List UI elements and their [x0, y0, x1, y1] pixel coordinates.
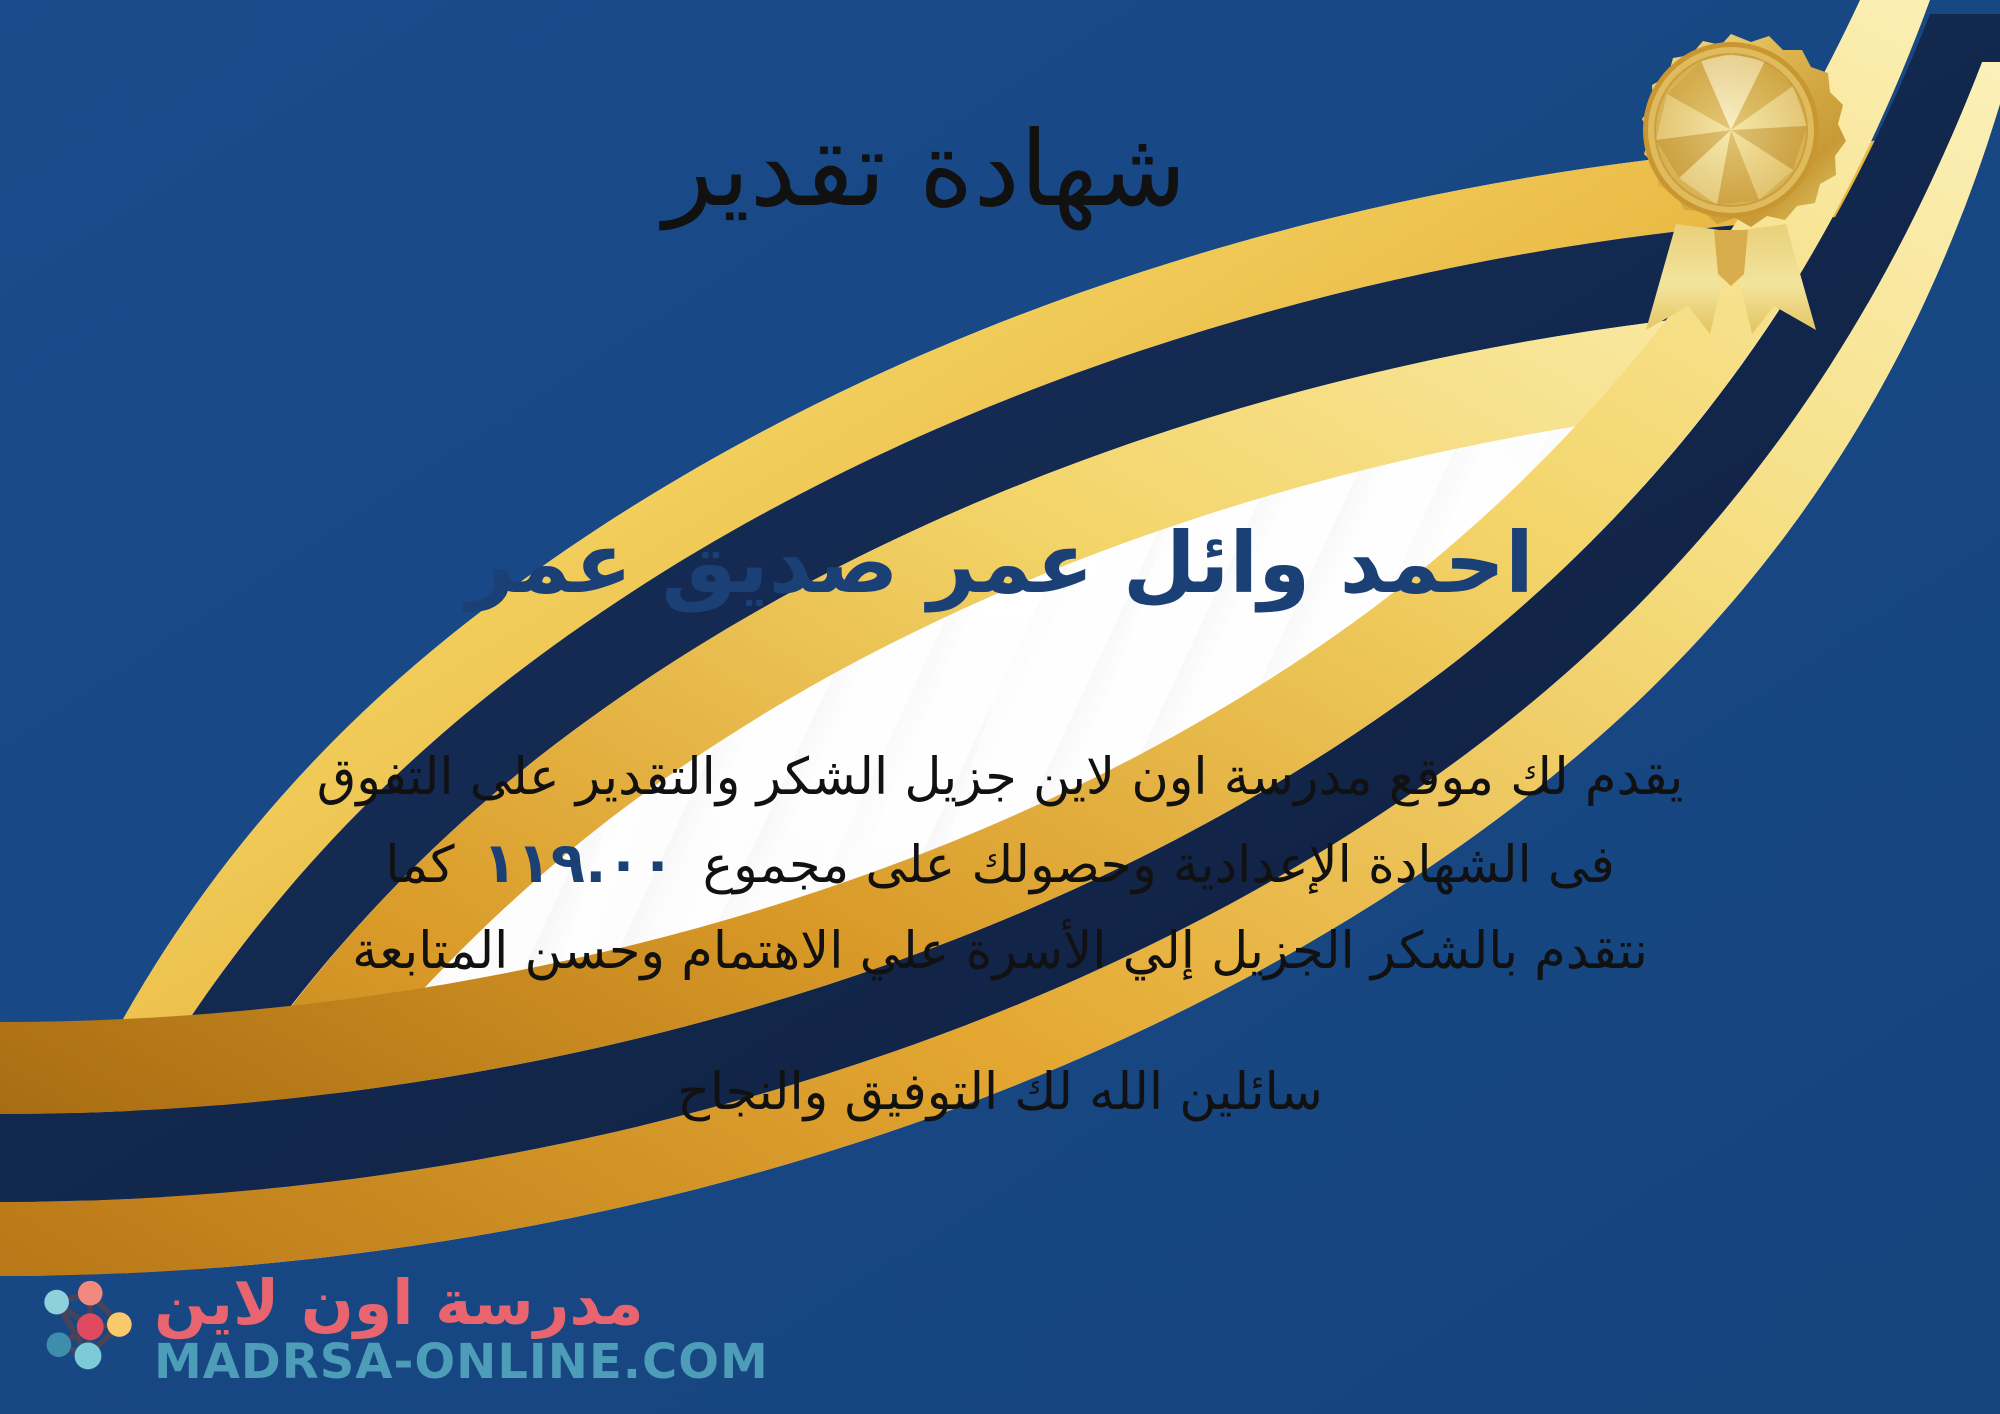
logo-arabic-name: مدرسة اون لاين — [154, 1272, 644, 1334]
body-line-3: نتقدم بالشكر الجزيل إلي الأسرة علي الاهت… — [60, 909, 1940, 995]
site-logo[interactable]: مدرسة اون لاين MADRSA-ONLINE.COM — [32, 1272, 769, 1386]
closing-wish-text: سائلين الله لك التوفيق والنجاح — [0, 1060, 2000, 1126]
total-score-value: ١١٩.٠٠ — [455, 831, 703, 896]
certificate-body: يقدم لك موقع مدرسة اون لاين جزيل الشكر و… — [60, 735, 1940, 995]
body-line-2-suffix: كما — [385, 836, 454, 895]
logo-website-url: MADRSA-ONLINE.COM — [154, 1338, 769, 1386]
body-line-2-prefix: فى الشهادة الإعدادية وحصولك على مجموع — [703, 836, 1615, 895]
recipient-name: احمد وائل عمر صديق عمر — [0, 516, 2000, 610]
logo-text-group: مدرسة اون لاين MADRSA-ONLINE.COM — [154, 1272, 769, 1386]
gold-award-medal-icon — [1606, 34, 1856, 334]
network-nodes-icon — [32, 1273, 144, 1385]
body-line-1: يقدم لك موقع مدرسة اون لاين جزيل الشكر و… — [60, 735, 1940, 821]
certificate-page: شهادة تقدير احمد وائل عمر صديق عمر يقدم … — [0, 0, 2000, 1414]
body-line-2: فى الشهادة الإعدادية وحصولك على مجموع١١٩… — [60, 821, 1940, 909]
